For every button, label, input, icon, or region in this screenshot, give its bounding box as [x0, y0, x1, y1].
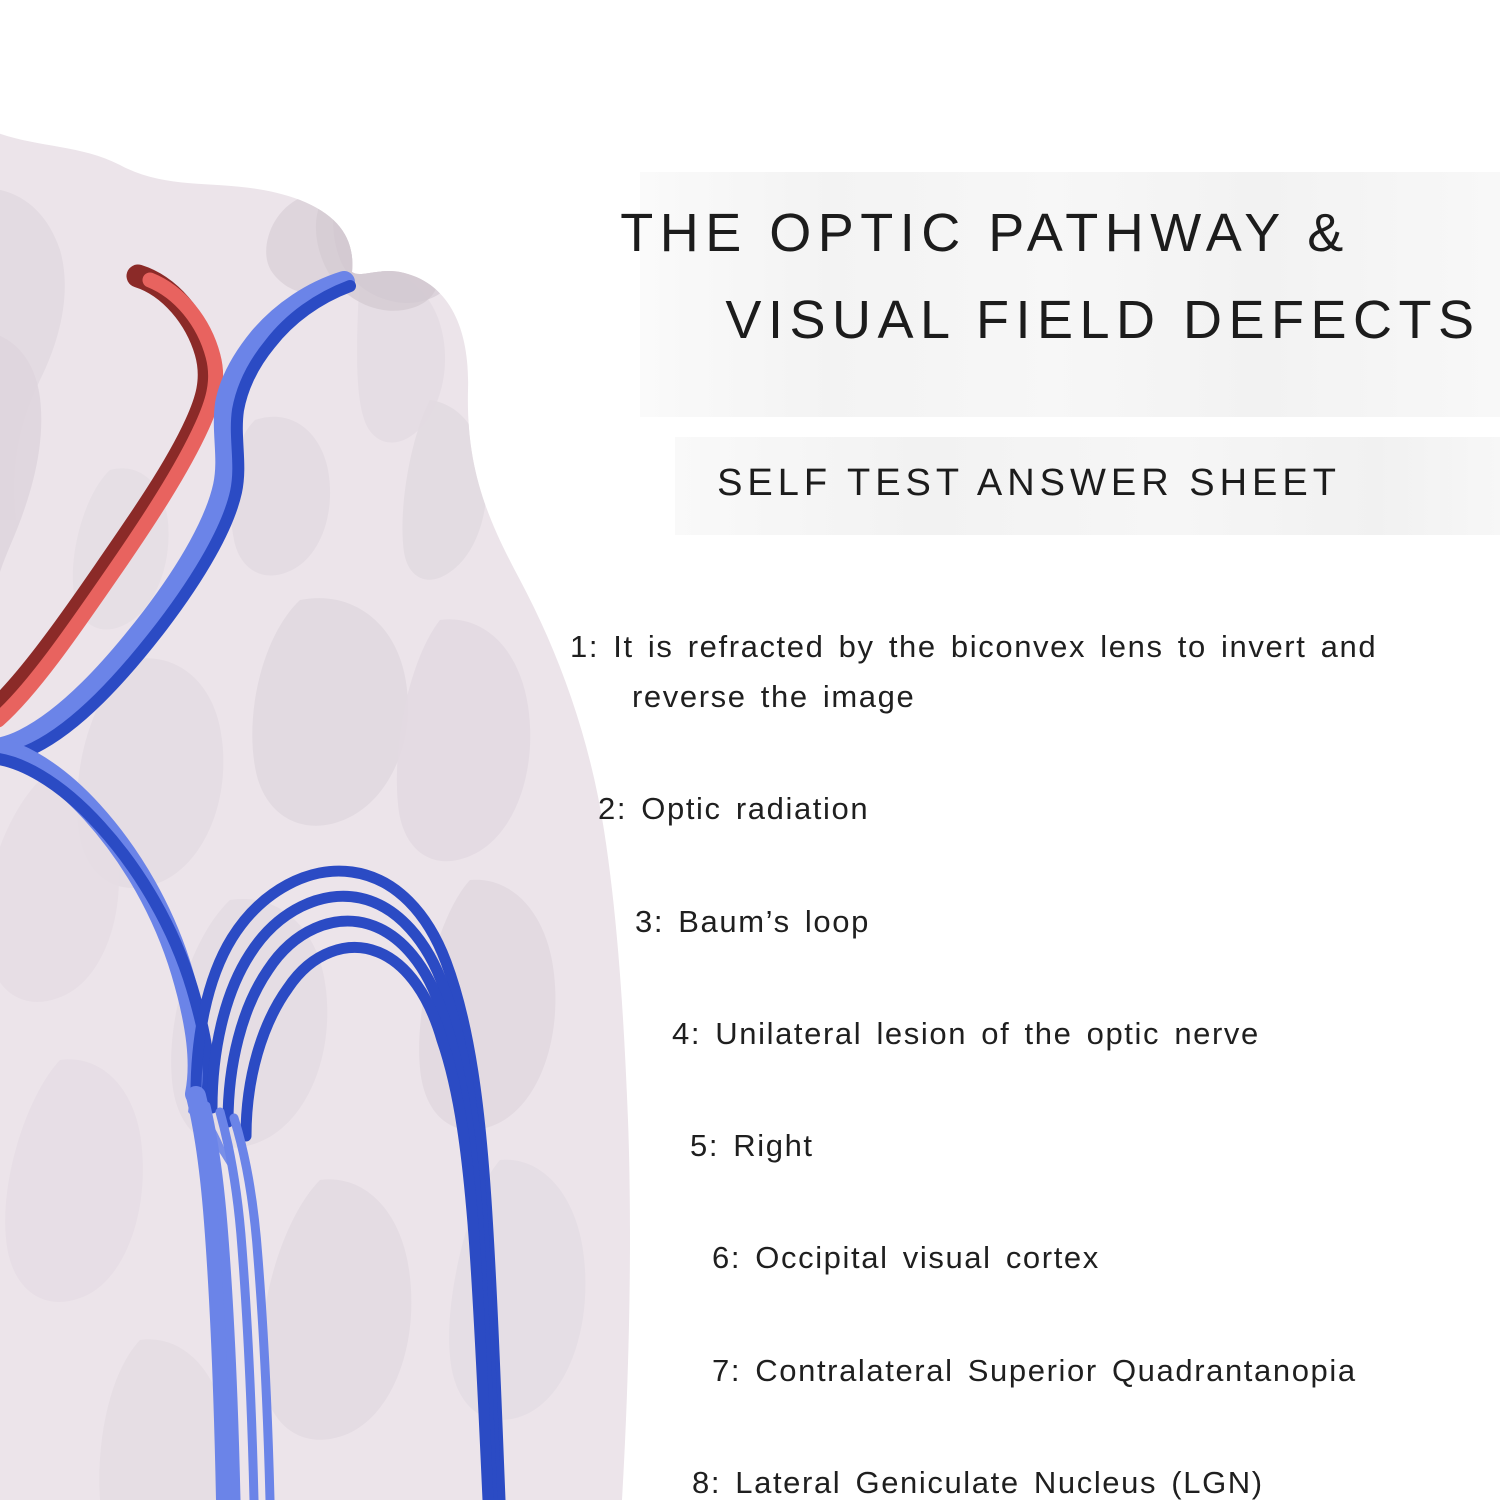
answer-number-1: 1:	[570, 629, 599, 664]
poster-root: THE OPTIC PATHWAY & VISUAL FIELD DEFECTS…	[0, 0, 1500, 1500]
answer-list: 1: It is refracted by the biconvex lens …	[470, 622, 1500, 1500]
answer-item-3: 3: Baum’s loop	[635, 897, 1500, 947]
page-title-line-2: VISUAL FIELD DEFECTS	[470, 277, 1500, 364]
answer-text-4: Unilateral lesion of the optic nerve	[715, 1016, 1260, 1051]
answer-item-1-line-2: reverse the image	[570, 672, 1500, 722]
answer-text-1: It is refracted by the biconvex lens to …	[613, 629, 1377, 664]
answer-item-5: 5: Right	[690, 1121, 1500, 1171]
page-subtitle: SELF TEST ANSWER SHEET	[470, 462, 1500, 505]
answer-number-3: 3:	[635, 904, 664, 939]
answer-number-7: 7:	[712, 1353, 741, 1388]
answer-item-4: 4: Unilateral lesion of the optic nerve	[672, 1009, 1500, 1059]
answer-text-3: Baum’s loop	[678, 904, 870, 939]
answer-number-8: 8:	[692, 1465, 721, 1500]
answer-item-4-line-1: 4: Unilateral lesion of the optic nerve	[672, 1009, 1500, 1059]
answer-text-8: Lateral Geniculate Nucleus (LGN)	[735, 1465, 1263, 1500]
answer-item-2-line-1: 2: Optic radiation	[598, 784, 1500, 834]
answer-text-6: Occipital visual cortex	[755, 1240, 1100, 1275]
answer-number-4: 4:	[672, 1016, 701, 1051]
answer-item-5-line-1: 5: Right	[690, 1121, 1500, 1171]
answer-text-7: Contralateral Superior Quadrantanopia	[755, 1353, 1356, 1388]
answer-item-1: 1: It is refracted by the biconvex lens …	[570, 622, 1500, 722]
answer-item-2: 2: Optic radiation	[598, 784, 1500, 834]
answer-item-7-line-1: 7: Contralateral Superior Quadrantanopia	[712, 1346, 1500, 1396]
answer-number-6: 6:	[712, 1240, 741, 1275]
answer-text-2: Optic radiation	[641, 791, 869, 826]
answer-item-8-line-1: 8: Lateral Geniculate Nucleus (LGN)	[692, 1458, 1500, 1500]
page-title: THE OPTIC PATHWAY & VISUAL FIELD DEFECTS	[470, 190, 1500, 365]
answer-item-6: 6: Occipital visual cortex	[712, 1233, 1500, 1283]
answer-item-1-line-1: 1: It is refracted by the biconvex lens …	[570, 622, 1500, 672]
answer-item-8: 8: Lateral Geniculate Nucleus (LGN)	[692, 1458, 1500, 1500]
answer-item-7: 7: Contralateral Superior Quadrantanopia	[712, 1346, 1500, 1396]
page-title-line-1: THE OPTIC PATHWAY &	[470, 190, 1500, 277]
answer-item-3-line-1: 3: Baum’s loop	[635, 897, 1500, 947]
answer-number-2: 2:	[598, 791, 627, 826]
text-column: THE OPTIC PATHWAY & VISUAL FIELD DEFECTS…	[470, 0, 1500, 1500]
answer-item-6-line-1: 6: Occipital visual cortex	[712, 1233, 1500, 1283]
answer-number-5: 5:	[690, 1128, 719, 1163]
answer-text-5: Right	[733, 1128, 813, 1163]
